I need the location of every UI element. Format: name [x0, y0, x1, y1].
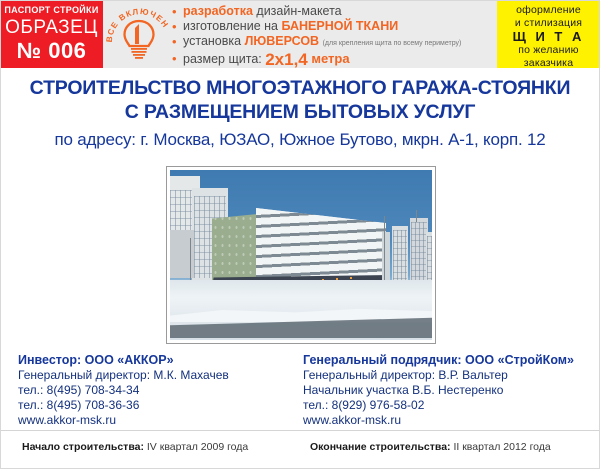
service-item-grommets: установка ЛЮВЕРСОВ (для крепления щита п… [172, 34, 494, 51]
service-strong: разработка [183, 4, 253, 18]
services-list: разработка дизайн-макета изготовление на… [172, 4, 494, 66]
service-upper: ЛЮВЕРСОВ [245, 34, 320, 48]
service-strong: установка [183, 34, 245, 48]
service-size-value: 2x1,4 [265, 50, 308, 69]
footer-bar: Начало строительства: IV квартал 2009 го… [0, 430, 600, 469]
passport-label: ПАСПОРТ СТРОЙКИ [0, 5, 103, 16]
customization-panel: оформление и стилизация Щ И Т А по желан… [497, 0, 600, 68]
custom-line-2: и стилизация [497, 17, 600, 30]
page-title-line-1: СТРОИТЕЛЬСТВО МНОГОЭТАЖНОГО ГАРАЖА-СТОЯН… [0, 76, 600, 100]
photo-frame [166, 166, 436, 344]
construction-end-label: Окончание строительства: [310, 441, 451, 453]
investor-column: Инвестор: ООО «АККОР» Генеральный директ… [18, 352, 229, 428]
construction-end: Окончание строительства: II квартал 2012… [310, 441, 551, 453]
service-size-unit: метра [308, 51, 350, 66]
custom-line-1: оформление [497, 4, 600, 17]
page-title-line-2: С РАЗМЕЩЕНИЕМ БЫТОВЫХ УСЛУГ [0, 100, 600, 124]
header-bar: ПАСПОРТ СТРОЙКИ ОБРАЗЕЦ № 006 ВСЕ ВКЛЮЧЕ… [0, 0, 600, 68]
construction-start-label: Начало строительства: [22, 441, 144, 453]
photo-area [0, 160, 600, 348]
custom-shield-label: Щ И Т А [497, 29, 600, 44]
custom-line-3: по желанию [497, 44, 600, 57]
service-strong: изготовление на [183, 19, 281, 33]
sample-number-block: ПАСПОРТ СТРОЙКИ ОБРАЗЕЦ № 006 [0, 0, 103, 68]
construction-photo [170, 170, 432, 340]
investor-director: Генеральный директор: М.К. Махачев [18, 368, 229, 383]
service-note: (для крепления щита по всему периметру) [323, 40, 462, 47]
service-item-fabrication: изготовление на БАНЕРНОЙ ТКАНИ [172, 19, 494, 34]
contractor-column: Генеральный подрядчик: ООО «СтройКом» Ге… [303, 352, 574, 428]
contractor-site-manager: Начальник участка В.Б. Нестеренко [303, 383, 574, 398]
contractor-director: Генеральный директор: В.Р. Вальтер [303, 368, 574, 383]
billboard-mockup: ПАСПОРТ СТРОЙКИ ОБРАЗЕЦ № 006 ВСЕ ВКЛЮЧЕ… [0, 0, 600, 469]
construction-start-value: IV квартал 2009 года [144, 441, 248, 453]
construction-start: Начало строительства: IV квартал 2009 го… [22, 441, 248, 453]
contacts-area: Инвестор: ООО «АККОР» Генеральный директ… [0, 348, 600, 430]
service-item-size: размер щита: 2x1,4 метра [172, 51, 494, 67]
service-upper: БАНЕРНОЙ ТКАНИ [281, 19, 398, 33]
sample-number: № 006 [0, 39, 103, 63]
service-rest: дизайн-макета [253, 4, 342, 18]
investor-phone-1: тел.: 8(495) 708-34-34 [18, 383, 229, 398]
project-address: по адресу: г. Москва, ЮЗАО, Южное Бутово… [0, 129, 600, 151]
construction-end-value: II квартал 2012 года [451, 441, 551, 453]
sample-label: ОБРАЗЕЦ [0, 17, 103, 39]
contractor-phone: тел.: 8(929) 976-58-02 [303, 398, 574, 413]
service-item-design: разработка дизайн-макета [172, 4, 494, 19]
project-title-area: СТРОИТЕЛЬСТВО МНОГОЭТАЖНОГО ГАРАЖА-СТОЯН… [0, 68, 600, 160]
contractor-website[interactable]: www.akkor-msk.ru [303, 413, 574, 428]
contractor-heading: Генеральный подрядчик: ООО «СтройКом» [303, 352, 574, 368]
investor-phone-2: тел.: 8(495) 708-36-36 [18, 398, 229, 413]
investor-website[interactable]: www.akkor-msk.ru [18, 413, 229, 428]
investor-heading: Инвестор: ООО «АККОР» [18, 352, 229, 368]
lightbulb-icon: ВСЕ ВКЛЮЧЕНО [106, 2, 172, 66]
service-strong: размер щита: [183, 52, 265, 66]
